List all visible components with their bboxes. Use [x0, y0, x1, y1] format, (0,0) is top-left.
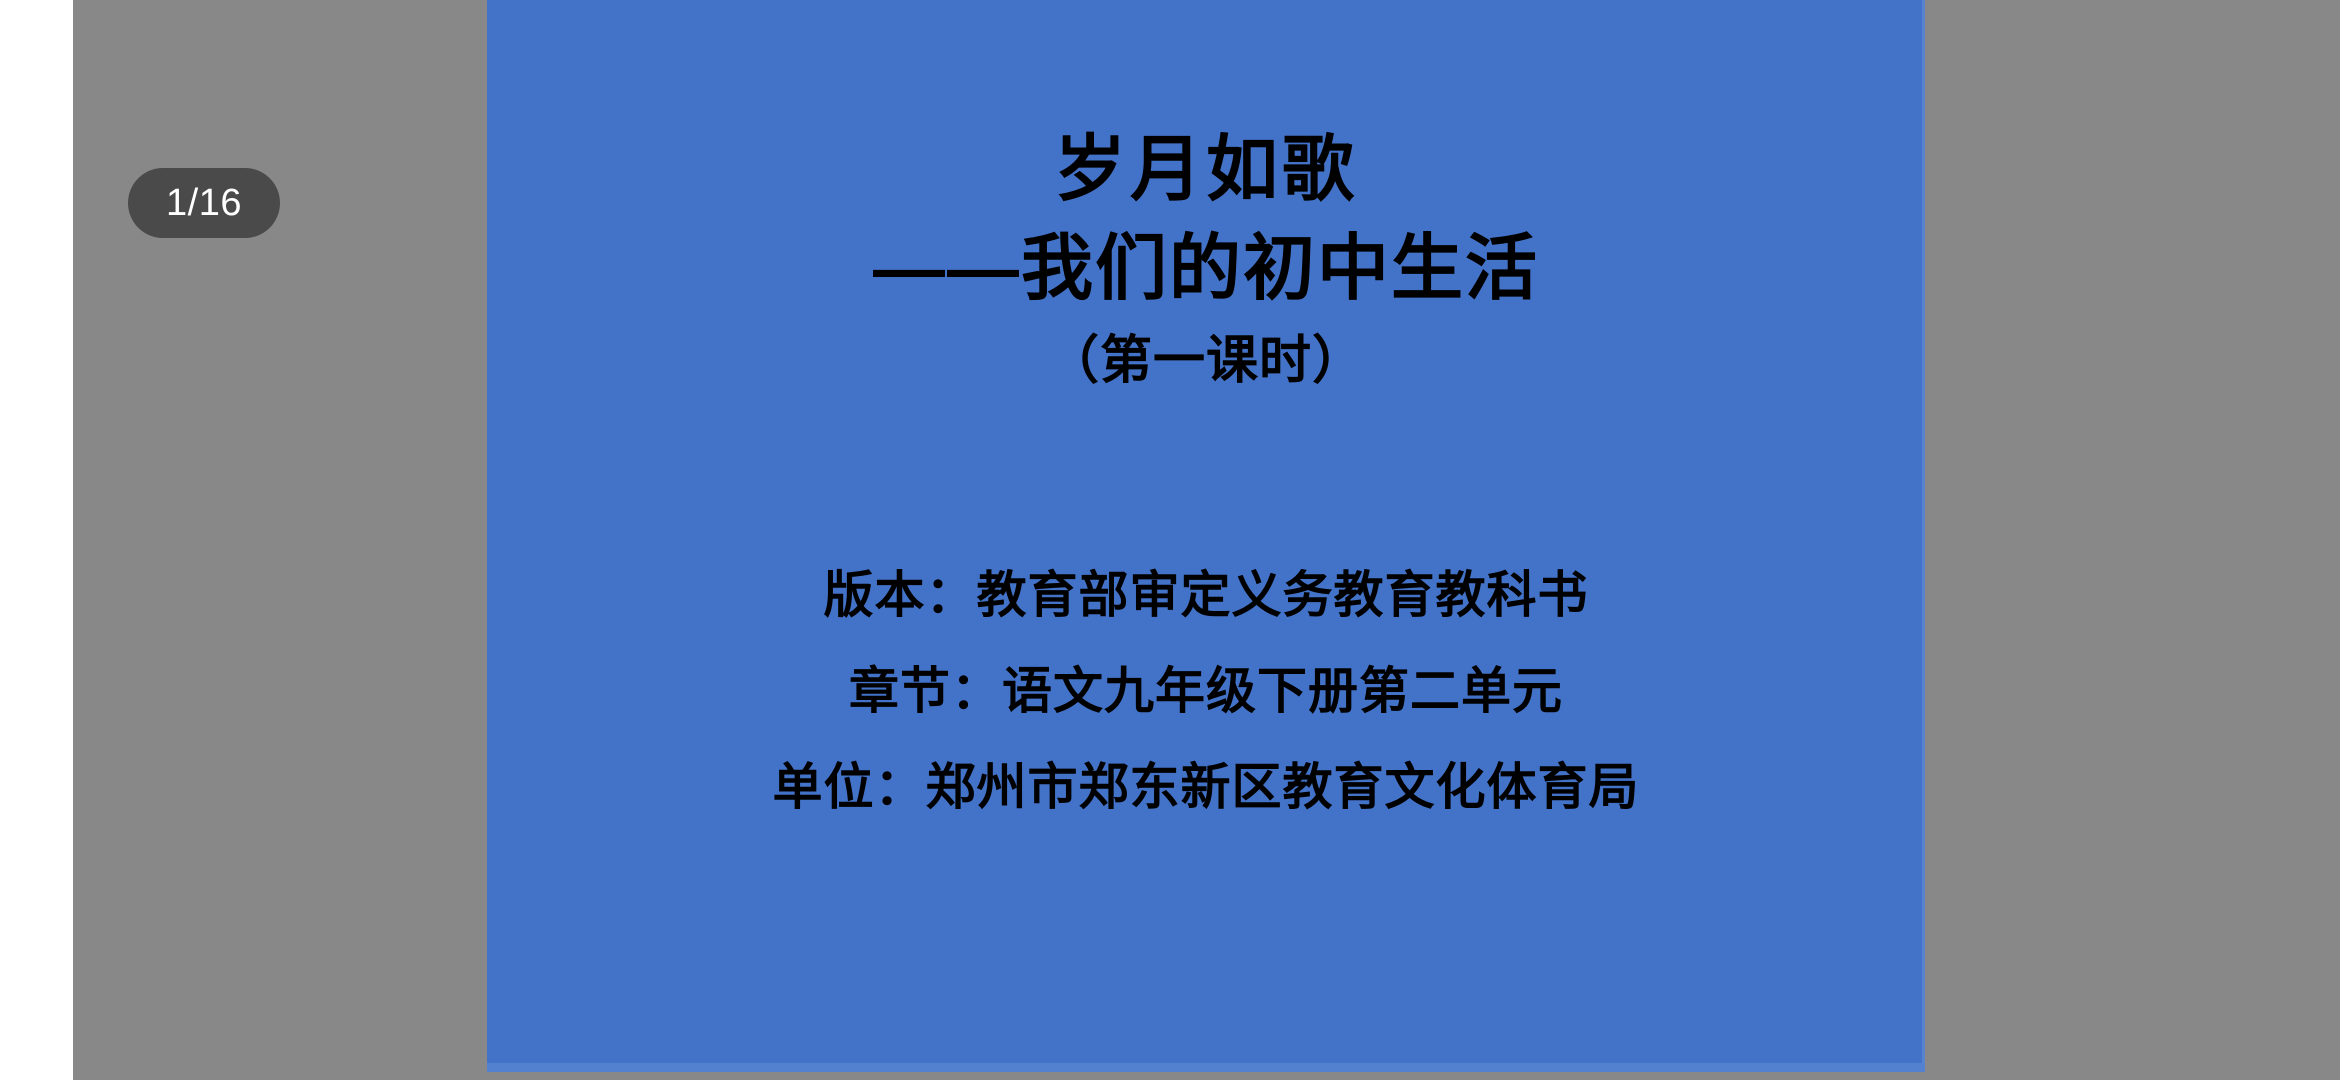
page-indicator-badge[interactable]: 1/16: [128, 168, 280, 238]
slide-title-block: 岁月如歌 ——我们的初中生活 （第一课时）: [487, 128, 1925, 392]
slide-right-edge: [1922, 0, 1925, 1072]
slide-meta-block: 版本：教育部审定义务教育教科书 章节：语文九年级下册第二单元 单位：郑州市郑东新…: [487, 570, 1925, 812]
slide-canvas[interactable]: 岁月如歌 ——我们的初中生活 （第一课时） 版本：教育部审定义务教育教科书 章节…: [487, 0, 1925, 1072]
page-indicator-label: 1/16: [166, 184, 242, 222]
slide-meta-organization: 单位：郑州市郑东新区教育文化体育局: [487, 762, 1925, 812]
left-gutter: [0, 0, 73, 1080]
slide-meta-chapter: 章节：语文九年级下册第二单元: [487, 666, 1925, 716]
slide-title-session: （第一课时）: [487, 330, 1925, 392]
slide-content: 岁月如歌 ——我们的初中生活 （第一课时） 版本：教育部审定义务教育教科书 章节…: [487, 0, 1925, 1072]
slide-bottom-scroll-bar[interactable]: [487, 1063, 1925, 1072]
slide-viewer: 1/16 岁月如歌 ——我们的初中生活 （第一课时） 版本：教育部审定义务教育教…: [0, 0, 2340, 1080]
slide-meta-version: 版本：教育部审定义务教育教科书: [487, 570, 1925, 620]
slide-title-subtitle: ——我们的初中生活: [487, 227, 1925, 312]
slide-title-main: 岁月如歌: [487, 128, 1925, 213]
